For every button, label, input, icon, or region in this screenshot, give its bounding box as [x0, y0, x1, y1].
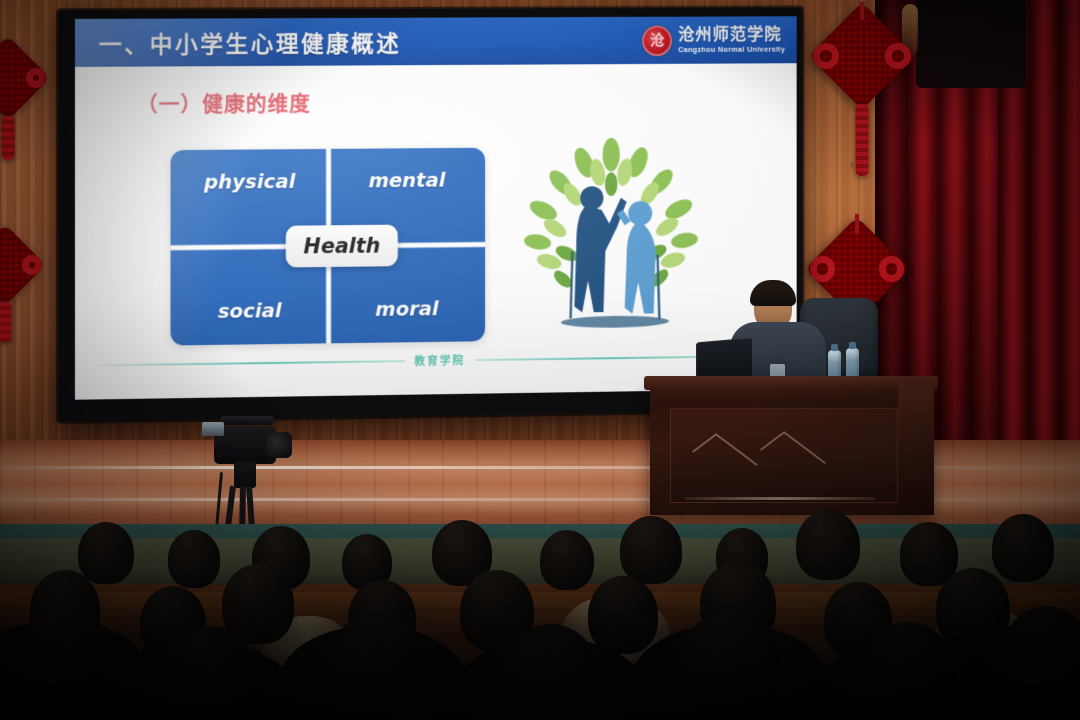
knot-cord [860, 2, 864, 20]
lectern-top-edge [644, 376, 938, 390]
knot-loop-right [879, 256, 904, 281]
knot-loop-right [885, 43, 911, 69]
knot-tassel [0, 302, 12, 342]
knot-tassel [856, 104, 869, 176]
lectern-chevron-ornament [692, 433, 758, 483]
knot-loop-right [22, 255, 42, 275]
slide-title-bar: 一、中小学生心理健康概述 沧 沧州师范学院 Cangzhou Normal Un… [75, 16, 797, 67]
knot-cord [855, 214, 859, 234]
university-name-en: Cangzhou Normal University [678, 45, 785, 53]
chinese-knot-decoration [0, 48, 38, 108]
footer-text: 教育学院 [414, 352, 465, 369]
university-logo: 沧 沧州师范学院 Cangzhou Normal University [642, 25, 789, 56]
presenter-hair [750, 280, 796, 306]
chinese-knot-decoration [824, 18, 900, 94]
lecture-hall-scene: 一、中小学生心理健康概述 沧 沧州师范学院 Cangzhou Normal Un… [0, 0, 1080, 720]
lectern-side-panel [898, 376, 934, 515]
lectern-chevron-ornament [760, 431, 826, 481]
chinese-knot-decoration [0, 236, 34, 294]
slide-subtitle: （一）健康的维度 [137, 88, 311, 119]
lectern [650, 384, 932, 515]
camera-flip-screen [202, 422, 224, 436]
podium-group [650, 280, 932, 515]
person-figures [574, 186, 655, 315]
audience [0, 500, 1080, 720]
health-quadrant-diagram: physical mental social moral Health [171, 148, 486, 346]
leaf-cluster [523, 137, 699, 291]
health-center-label: Health [286, 225, 398, 268]
university-name-block: 沧州师范学院 Cangzhou Normal University [678, 27, 785, 53]
curtain-valance-shadow [916, 0, 1026, 88]
university-name-cn: 沧州师范学院 [678, 27, 785, 44]
university-seal-icon: 沧 [642, 25, 672, 56]
tripod-head [234, 462, 256, 488]
knot-tassel [2, 116, 15, 160]
footer-rule-left [99, 360, 405, 366]
slide-title: 一、中小学生心理健康概述 [99, 25, 401, 60]
knot-loop-left [810, 256, 835, 281]
seal-glyph: 沧 [650, 33, 664, 48]
camera-handle [220, 416, 274, 425]
audience-shadow-overlay [0, 570, 1080, 720]
camera-lens [266, 432, 292, 458]
knot-loop-left [813, 43, 839, 69]
lectern-front-panel [670, 408, 898, 503]
